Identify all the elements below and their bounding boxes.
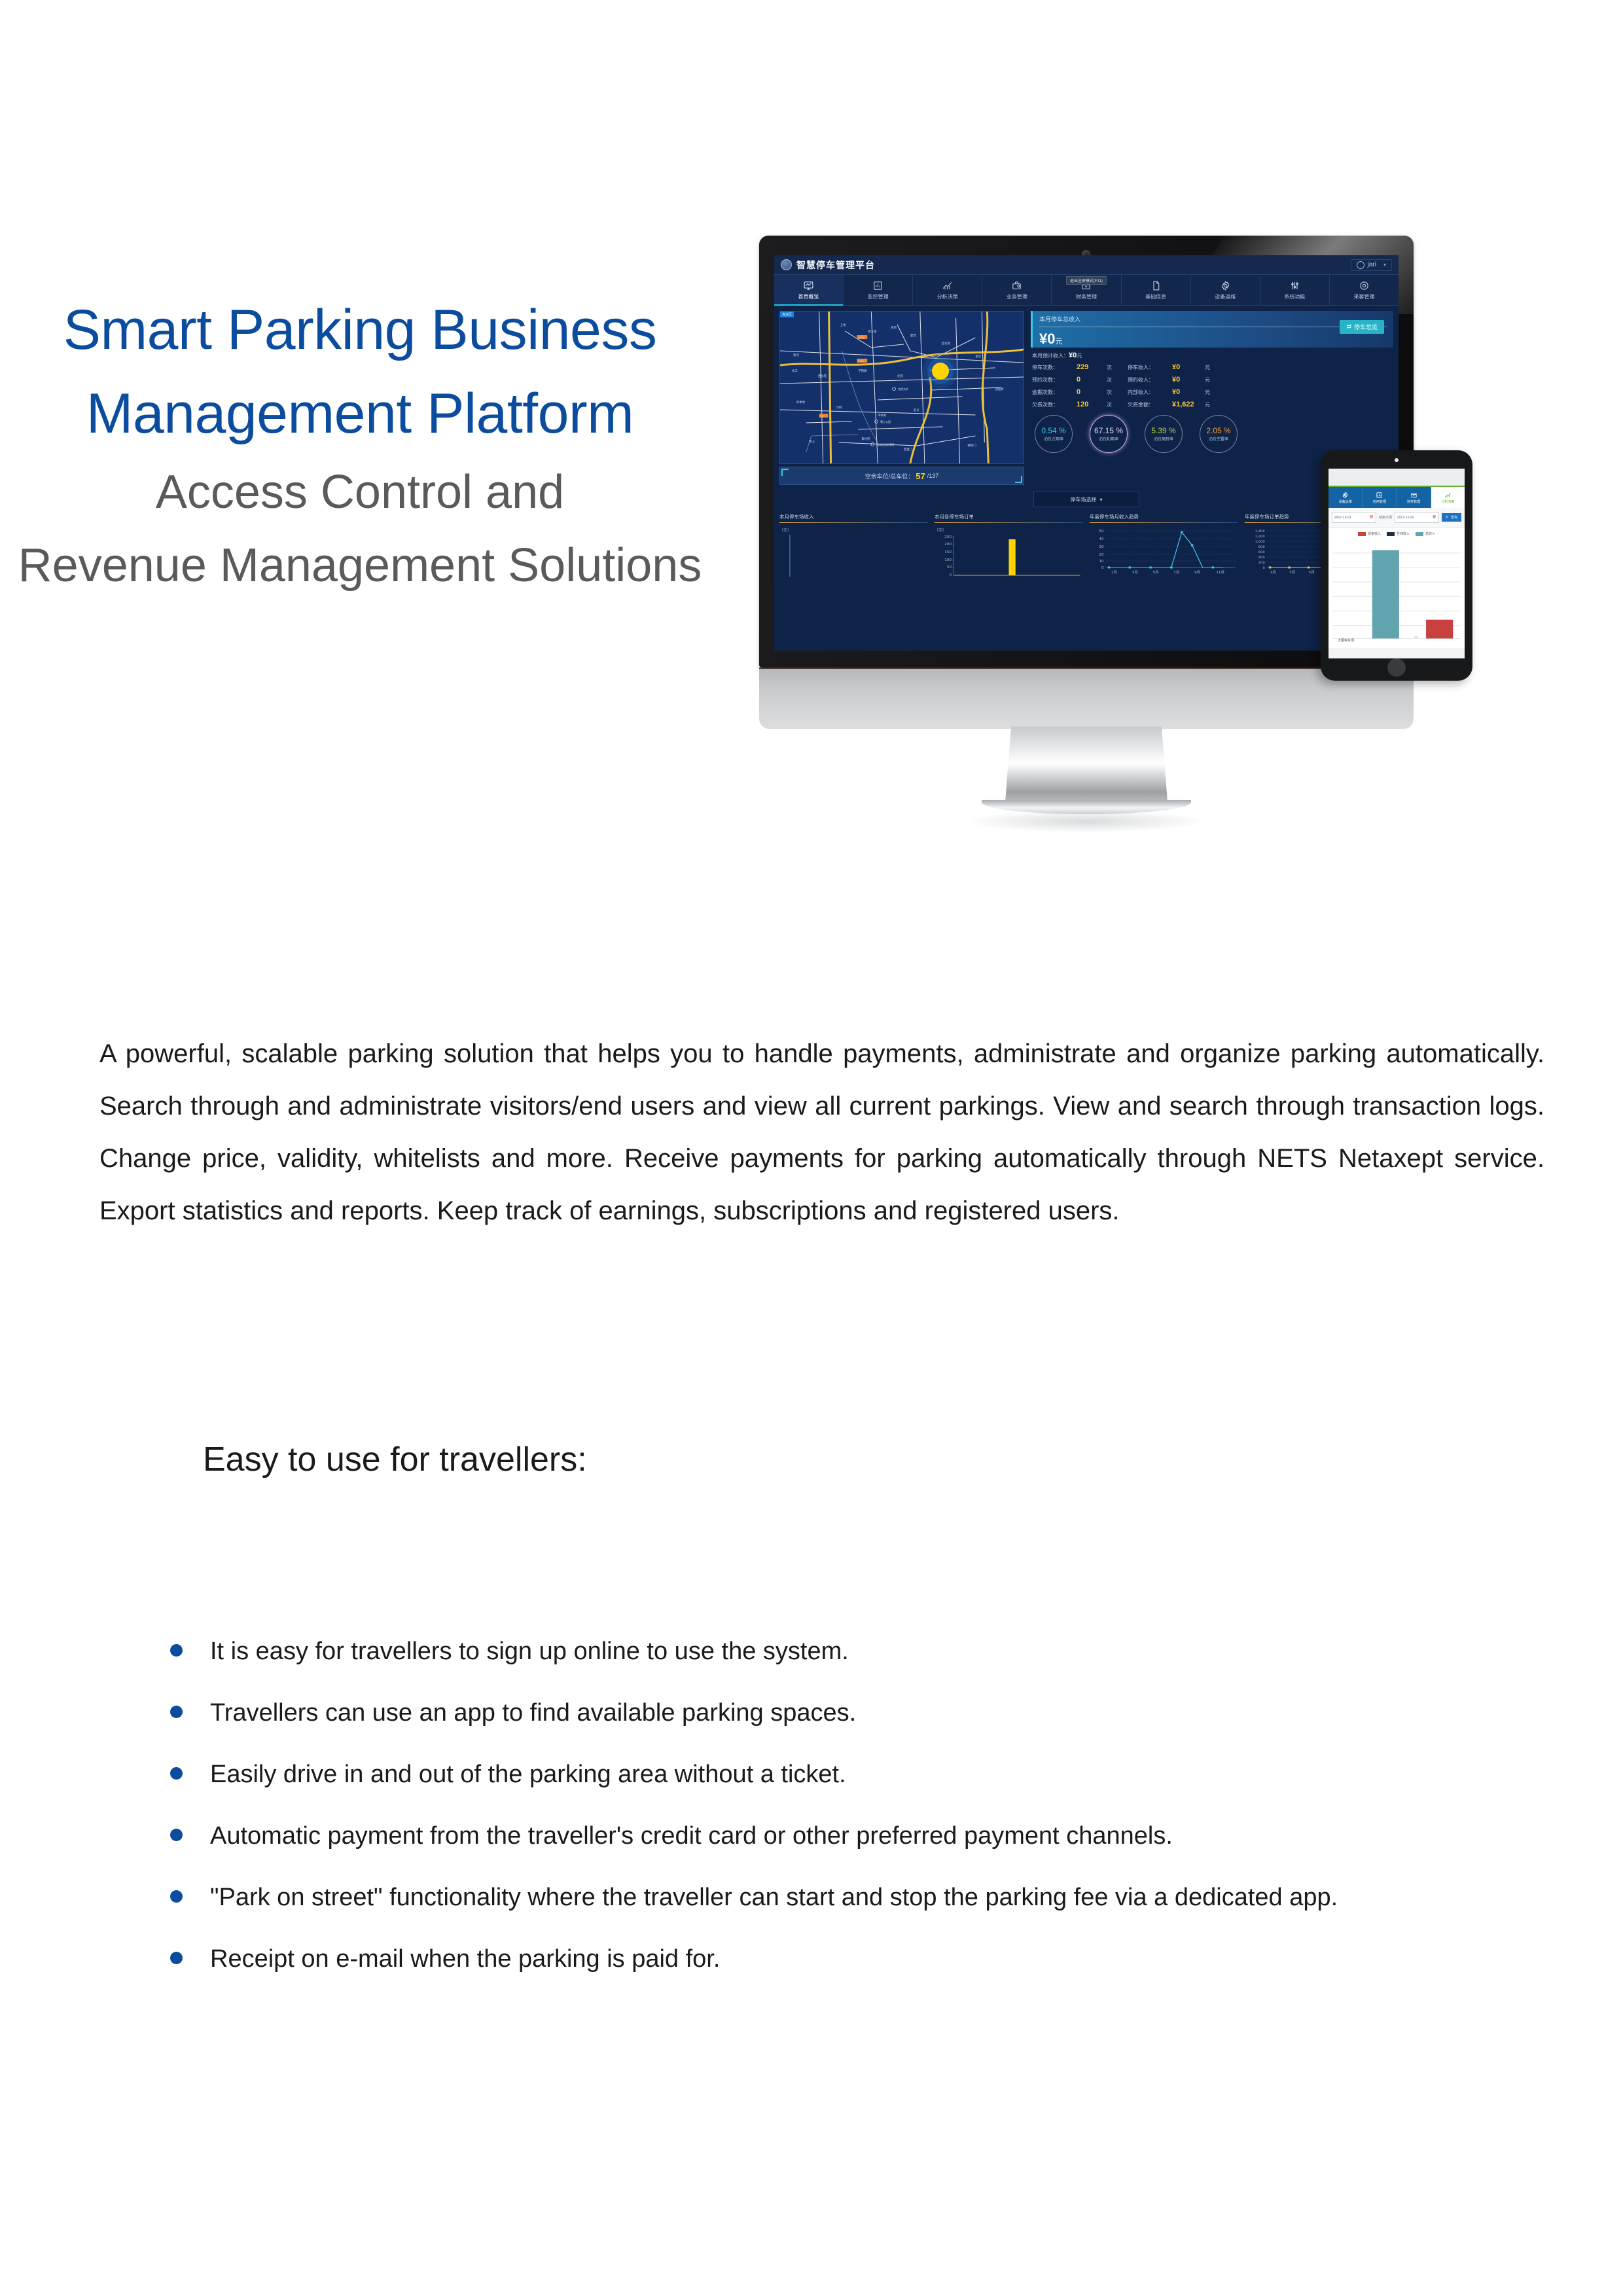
bullet-dot-icon (170, 1644, 183, 1657)
user-name: jari (1368, 261, 1376, 268)
kpi-value: 229 (1077, 363, 1103, 371)
divider (779, 522, 928, 523)
kpi-unit: 元 (1205, 389, 1221, 396)
kpi-label: 停车次数： (1032, 364, 1073, 371)
device-mockup-group: 智慧停车管理平台 jari ▾ 首页概览 (746, 216, 1440, 818)
chart-plot (779, 533, 928, 583)
gauge-value: 5.39 % (1151, 426, 1175, 435)
svg-text:40: 40 (1099, 537, 1104, 541)
expected-revenue-value: ¥0 (1069, 351, 1077, 359)
search-button-label: 查询 (1451, 515, 1457, 520)
monitor-icon (803, 280, 814, 291)
list-item-text: It is easy for travellers to sign up onl… (210, 1630, 1479, 1673)
free-spaces-value: 57 (916, 471, 925, 481)
chevron-down-icon: ▾ (1383, 262, 1386, 268)
parking-overview-button[interactable]: ⇄ 停车总览 (1340, 320, 1384, 334)
legend-item-online[interactable]: 在线收入 (1387, 531, 1410, 536)
svg-text:1月: 1月 (1111, 570, 1117, 575)
chart-legend: 现金收入 在线收入 总收入 (1329, 528, 1465, 537)
svg-text:250: 250 (944, 535, 952, 539)
gauge-label: 泊位利用率 (1099, 436, 1118, 442)
document-icon (1150, 280, 1162, 291)
svg-text:酒仙桥: 酒仙桥 (995, 387, 1004, 391)
nav-item-label: 监控管理 (868, 293, 889, 300)
svg-text:1,200: 1,200 (1255, 535, 1265, 539)
svg-text:1,400: 1,400 (1255, 529, 1265, 533)
gauge-vacancy: 2.05 % 泊位空置率 (1200, 415, 1238, 453)
page-title-line-1: Smart Parking Business (0, 288, 720, 372)
desktop-monitor-mockup: 智慧停车管理平台 jari ▾ 首页概览 (759, 236, 1414, 694)
svg-text:朝上公园: 朝上公园 (880, 420, 891, 423)
svg-text:永丰: 永丰 (792, 368, 798, 373)
chart-monthly-revenue: 本月停车场收入 （元） (779, 513, 928, 583)
headset-icon (1359, 280, 1370, 291)
tablet-home-button[interactable] (1387, 658, 1406, 677)
svg-text:20: 20 (1099, 553, 1104, 557)
nav-item-finance[interactable]: 退出全屏模式(F11) 财务管理 (1052, 275, 1121, 305)
map-poi-label: 海淀区 (780, 312, 794, 317)
svg-text:0: 0 (1101, 566, 1104, 570)
svg-text:5月: 5月 (1309, 570, 1315, 575)
svg-text:100: 100 (944, 558, 952, 562)
page-subtitle-line-1: Access Control and (0, 456, 720, 529)
tablet-filter-bar: 2017-12-01 📅 结束日期 2017-12-22 📅 🔍 查询 (1329, 508, 1465, 528)
svg-text:0: 0 (1262, 566, 1264, 570)
svg-text:霍营: 霍营 (910, 333, 916, 338)
legend-swatch (1387, 532, 1395, 536)
sliders-icon (1289, 280, 1300, 291)
date-separator-label: 结束日期 (1379, 515, 1392, 520)
dashboard-body: 清河上地 西三旗育新 霍营回龙观 永丰西北旺 学院路北苑 四季青万柳 中关村安贞… (774, 306, 1399, 588)
nav-item-label: 业务管理 (1007, 293, 1027, 300)
lot-selector-dropdown[interactable]: 停车场选择 ▾ (1033, 492, 1139, 507)
svg-text:北京大学: 北京大学 (898, 387, 908, 391)
chart-monthly-orders: 本月各停车场订单 （次） 250200150 (935, 513, 1083, 583)
map-panel: 清河上地 西三旗育新 霍营回龙观 永丰西北旺 学院路北苑 四季青万柳 中关村安贞… (779, 311, 1024, 485)
svg-text:回龙观: 回龙观 (942, 341, 951, 346)
nav-item-monitoring[interactable]: 监控管理 (844, 275, 913, 305)
legend-label: 现金收入 (1368, 531, 1381, 536)
legend-label: 在线收入 (1397, 531, 1410, 536)
svg-text:望京: 望京 (975, 354, 981, 359)
svg-text:800: 800 (1258, 545, 1265, 549)
legend-swatch (1416, 532, 1423, 536)
bullet-dot-icon (170, 1706, 183, 1718)
svg-text:5月: 5月 (1152, 570, 1158, 575)
search-button[interactable]: 🔍 查询 (1442, 513, 1461, 522)
date-from-input[interactable]: 2017-12-01 📅 (1332, 512, 1376, 523)
tablet-tab-label: 应用管理 (1373, 499, 1386, 504)
kpi-unit: 元 (1205, 364, 1221, 371)
gauge-label: 泊位空置率 (1209, 436, 1228, 442)
city-map[interactable]: 清河上地 西三旗育新 霍营回龙观 永丰西北旺 学院路北苑 四季青万柳 中关村安贞… (779, 311, 1024, 464)
revenue-unit: 元 (1055, 338, 1062, 346)
nav-item-label: 来客管理 (1353, 293, 1374, 300)
svg-text:200: 200 (1258, 561, 1265, 565)
calendar-icon: 📅 (1433, 516, 1436, 520)
chart-title: 本月各停车场订单 (935, 513, 1083, 520)
kpi-unit: 元 (1205, 401, 1221, 408)
search-icon: 🔍 (1446, 516, 1450, 520)
kpi-label: 预约次数： (1032, 376, 1073, 384)
tablet-tab-device-ops[interactable]: 设备运维 (1329, 487, 1363, 508)
svg-text:9月: 9月 (1194, 570, 1200, 575)
monitor-stand-neck (1005, 726, 1168, 810)
legend-label: 总收入 (1425, 531, 1435, 536)
dashboard-nav: 首页概览 监控管理 分析决策 (774, 275, 1399, 306)
gauge-label: 泊位占用率 (1044, 436, 1063, 442)
date-to-input[interactable]: 2017-12-22 📅 (1395, 512, 1439, 523)
tablet-footer (1329, 649, 1465, 658)
fullscreen-tooltip: 退出全屏模式(F11) (1066, 276, 1107, 285)
svg-text:四季青: 四季青 (796, 400, 806, 404)
svg-text:西北旺: 西北旺 (818, 374, 827, 378)
kpi-label: 停车收入： (1128, 364, 1168, 371)
corner-decoration (781, 469, 789, 476)
svg-text:西直门: 西直门 (904, 447, 913, 452)
feature-bullet-list: It is easy for travellers to sign up onl… (170, 1630, 1479, 1999)
divider (1090, 522, 1238, 523)
svg-text:600: 600 (1258, 550, 1265, 554)
chart-plot: 504030 20100 (1090, 527, 1238, 577)
kpi-label: 内部收入： (1128, 389, 1168, 396)
svg-text:安贞: 安贞 (914, 408, 919, 412)
kpi-value: ¥1,622 (1172, 401, 1201, 408)
svg-text:11月: 11月 (1216, 570, 1224, 575)
tablet-tab-label: 设备运维 (1339, 499, 1352, 504)
tablet-browser-bar (1329, 469, 1465, 486)
legend-item-total[interactable]: 总收入 (1416, 531, 1435, 536)
tablet-tab-label: 财务管理 (1407, 499, 1420, 504)
list-item-text: "Park on street" functionality where the… (210, 1876, 1479, 1919)
revenue-title: 本月停车总收入 (1039, 315, 1387, 323)
free-spaces-bar: 空余车位/总车位： 57 /137 (779, 467, 1024, 485)
tablet-tab-app-management[interactable]: 应用管理 (1363, 487, 1397, 508)
calendar-icon: 📅 (1370, 516, 1374, 520)
kpi-value: 0 (1077, 376, 1103, 384)
chart-title: 年度停车场月收入趋势 (1090, 513, 1238, 520)
list-item: Easily drive in and out of the parking a… (170, 1753, 1479, 1796)
list-item-text: Receipt on e-mail when the parking is pa… (210, 1937, 1479, 1981)
lot-selector-label: 停车场选择 (1070, 496, 1096, 503)
bullet-dot-icon (170, 1952, 183, 1964)
kpi-unit: 元 (1205, 376, 1221, 384)
chart-row: 本月停车场收入 （元） 本月各停车场订单 （次） (779, 513, 1393, 583)
chart-title: 本月停车场收入 (779, 513, 928, 520)
parking-overview-label: 停车总览 (1354, 323, 1378, 331)
chevron-down-icon: ▾ (1099, 497, 1102, 503)
svg-text:G6: G6 (821, 415, 823, 418)
nav-item-overview[interactable]: 首页概览 (774, 275, 844, 305)
tablet-tab-analysis[interactable]: 分析决策 (1431, 487, 1465, 508)
legend-swatch (1358, 532, 1366, 536)
svg-text:1,000: 1,000 (1255, 540, 1265, 544)
page-subtitle-line-2: Revenue Management Solutions (0, 529, 720, 602)
kpi-value: ¥0 (1172, 376, 1201, 384)
gauge-value: 67.15 % (1094, 426, 1123, 435)
svg-text:3月: 3月 (1132, 570, 1138, 575)
svg-text:紫竹院: 紫竹院 (861, 437, 870, 441)
expected-revenue-row: 本月预计收入：¥0元 (1032, 351, 1393, 359)
gauge-value: 2.05 % (1206, 426, 1230, 435)
svg-text:0: 0 (950, 573, 952, 577)
divider (935, 522, 1083, 523)
chart-unit: （元） (779, 527, 928, 533)
nav-item-analysis[interactable]: 分析决策 (913, 275, 982, 305)
nav-item-label: 系统功能 (1284, 293, 1305, 300)
revenue-amount: ¥0 (1039, 331, 1055, 347)
divider (1039, 327, 1387, 327)
chart-plot: 250200150 100500 (935, 533, 1083, 583)
gear-icon (1220, 280, 1231, 291)
monitor-chin (759, 668, 1414, 729)
svg-text:育新: 育新 (891, 325, 897, 330)
nav-item-label: 基础信息 (1145, 293, 1166, 300)
user-menu[interactable]: jari ▾ (1351, 259, 1392, 271)
tablet-screen: 设备运维 应用管理 财务管理 分析决策 2017-12-01 (1329, 469, 1465, 658)
tablet-camera-icon (1395, 458, 1399, 462)
chart-unit: （次） (935, 527, 1083, 533)
monitor-shadow (969, 810, 1204, 833)
gauge-occupancy: 0.54 % 泊位占用率 (1035, 415, 1073, 453)
expected-revenue-label: 本月预计收入： (1032, 353, 1069, 359)
list-item-text: Travellers can use an app to find availa… (210, 1691, 1479, 1734)
expected-revenue-unit: 元 (1077, 353, 1082, 359)
svg-text:3月: 3月 (1289, 570, 1295, 575)
bullet-dot-icon (170, 1890, 183, 1903)
map-marker-icon[interactable] (932, 363, 949, 380)
svg-text:50: 50 (1099, 529, 1104, 533)
tablet-mockup: 设备运维 应用管理 财务管理 分析决策 2017-12-01 (1321, 450, 1472, 681)
svg-text:朝阳门: 朝阳门 (967, 443, 976, 448)
nav-item-system[interactable]: 系统功能 (1260, 275, 1330, 305)
gauge-row: 0.54 % 泊位占用率 67.15 % 泊位利用率 5.39 % 泊位周转率 (1035, 415, 1393, 453)
gauge-label: 泊位周转率 (1154, 436, 1173, 442)
tablet-tab-finance[interactable]: 财务管理 (1397, 487, 1431, 508)
svg-text:西三旗: 西三旗 (868, 329, 877, 334)
svg-text:150: 150 (944, 550, 952, 554)
svg-text:7月: 7月 (1173, 570, 1179, 575)
chart-x-label: 大厦停车场 (1338, 638, 1354, 643)
kpi-value: 120 (1077, 401, 1103, 408)
tablet-tab-bar: 设备运维 应用管理 财务管理 分析决策 (1329, 486, 1465, 508)
svg-text:G204: G204 (858, 360, 864, 363)
svg-text:50: 50 (947, 565, 952, 569)
svg-text:400: 400 (1258, 556, 1265, 560)
nav-item-label: 设备运维 (1215, 293, 1236, 300)
list-item: Automatic payment from the traveller's c… (170, 1814, 1479, 1857)
nav-item-basic-info[interactable]: 基础信息 (1122, 275, 1191, 305)
list-item: Travellers can use an app to find availa… (170, 1691, 1479, 1734)
list-item-text: Automatic payment from the traveller's c… (210, 1814, 1479, 1857)
kpi-grid: 停车次数： 229 次 停车收入： ¥0 元 预约次数： 0 次 预约收入： ¥… (1032, 363, 1393, 408)
free-spaces-label: 空余车位/总车位： (865, 472, 914, 480)
svg-text:中关村: 中关村 (878, 413, 887, 418)
arrow-icon: ⇄ (1346, 323, 1351, 331)
kpi-value: ¥0 (1172, 363, 1201, 371)
kpi-label: 欠费金额： (1128, 401, 1168, 408)
page-title-line-2: Management Platform (0, 372, 720, 456)
nav-item-business[interactable]: 业务管理 (982, 275, 1052, 305)
trend-icon (942, 280, 953, 291)
list-item: "Park on street" functionality where the… (170, 1876, 1479, 1919)
svg-text:10: 10 (1099, 560, 1104, 564)
nav-item-device-ops[interactable]: 设备运维 (1191, 275, 1260, 305)
svg-text:香山: 香山 (809, 439, 815, 444)
svg-text:1月: 1月 (1270, 570, 1276, 575)
bar-chart-icon (872, 280, 883, 291)
svg-text:200: 200 (944, 543, 952, 547)
svg-text:清河: 清河 (793, 353, 799, 357)
kpi-label: 逾期次数： (1032, 389, 1073, 396)
gauge-turnover: 5.39 % 泊位周转率 (1145, 415, 1183, 453)
dashboard-header: 智慧停车管理平台 jari ▾ (774, 255, 1399, 275)
kpi-value: ¥0 (1172, 388, 1201, 396)
svg-text:30: 30 (1099, 545, 1104, 549)
date-from-value: 2017-12-01 (1334, 516, 1351, 520)
bullet-dot-icon (170, 1829, 183, 1841)
legend-item-cash[interactable]: 现金收入 (1358, 531, 1381, 536)
kpi-label: 预约收入： (1128, 376, 1168, 384)
intro-paragraph: A powerful, scalable parking solution th… (99, 1028, 1544, 1237)
svg-text:上地: 上地 (840, 323, 846, 327)
svg-text:北苑: 北苑 (897, 374, 903, 378)
nav-item-label: 首页概览 (798, 293, 819, 300)
briefcase-icon (1011, 280, 1022, 291)
kpi-unit: 次 (1107, 389, 1124, 396)
kpi-unit: 次 (1107, 401, 1124, 408)
corner-decoration (1015, 476, 1022, 483)
svg-text:西城旅游风景区: 西城旅游风景区 (876, 443, 895, 446)
kpi-value: 0 (1077, 388, 1103, 396)
hero-title-block: Smart Parking Business Management Platfo… (0, 288, 720, 602)
kpi-label: 欠费次数： (1032, 401, 1073, 408)
kpi-unit: 次 (1107, 364, 1124, 371)
nav-item-label: 财务管理 (1076, 293, 1097, 300)
gauge-value: 0.54 % (1041, 426, 1065, 435)
chart-yearly-revenue-trend: 年度停车场月收入趋势 (1090, 513, 1238, 583)
list-item: It is easy for travellers to sign up onl… (170, 1630, 1479, 1673)
section-heading: Easy to use for travellers: (203, 1440, 587, 1479)
tablet-tab-label: 分析决策 (1441, 499, 1454, 504)
gauge-utilization: 67.15 % 泊位利用率 (1090, 415, 1128, 453)
revenue-banner: 本月停车总收入 ¥0元 ⇄ 停车总览 (1031, 311, 1393, 348)
list-item: Receipt on e-mail when the parking is pa… (170, 1937, 1479, 1981)
date-to-value: 2017-12-22 (1397, 516, 1414, 520)
user-avatar-icon (1357, 261, 1364, 269)
svg-text:万柳: 万柳 (836, 405, 842, 410)
svg-text:G204: G204 (858, 336, 864, 339)
app-logo-icon (781, 259, 792, 270)
app-title: 智慧停车管理平台 (796, 259, 875, 272)
nav-item-label: 分析决策 (937, 293, 958, 300)
svg-text:学院路: 学院路 (858, 368, 867, 373)
list-item-text: Easily drive in and out of the parking a… (210, 1753, 1479, 1796)
nav-item-visitor[interactable]: 来客管理 (1330, 275, 1399, 305)
bullet-dot-icon (170, 1767, 183, 1780)
dashboard-screen: 智慧停车管理平台 jari ▾ 首页概览 (774, 255, 1399, 651)
total-spaces-value: /137 (927, 473, 939, 479)
tablet-bar-chart: 大厦停车场 (1329, 537, 1465, 649)
kpi-unit: 次 (1107, 376, 1124, 384)
